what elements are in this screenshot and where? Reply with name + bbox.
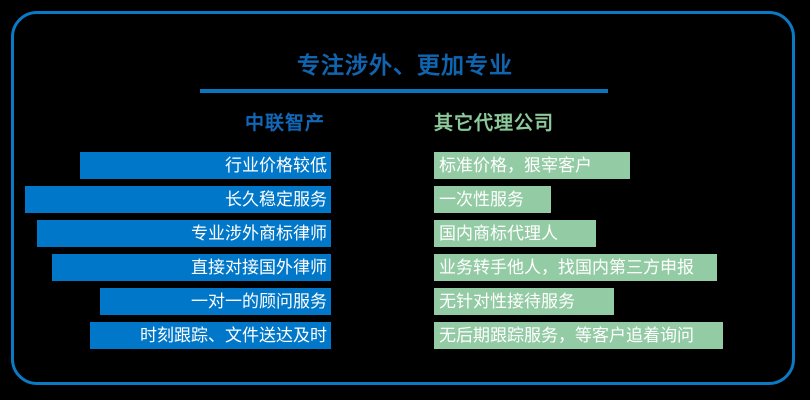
table-row: 直接对接国外律师业务转手他人，找国内第三方申报 <box>0 254 810 281</box>
advantage-bar-left: 行业价格较低 <box>80 152 331 179</box>
advantage-bar-left: 时刻跟踪、文件送达及时 <box>90 322 331 349</box>
table-row: 行业价格较低标准价格，狠宰客户 <box>0 152 810 179</box>
advantage-bar-left: 一对一的顾问服务 <box>100 288 331 315</box>
drawback-bar-right: 业务转手他人，找国内第三方申报 <box>434 254 717 281</box>
drawback-bar-right: 一次性服务 <box>434 186 551 213</box>
comparison-rows: 行业价格较低标准价格，狠宰客户长久稳定服务一次性服务专业涉外商标律师国内商标代理… <box>0 0 810 400</box>
drawback-bar-right: 无后期跟踪服务，等客户追着询问 <box>434 322 723 349</box>
drawback-bar-right: 标准价格，狠宰客户 <box>434 152 630 179</box>
table-row: 时刻跟踪、文件送达及时无后期跟踪服务，等客户追着询问 <box>0 322 810 349</box>
table-row: 一对一的顾问服务无针对性接待服务 <box>0 288 810 315</box>
drawback-bar-right: 无针对性接待服务 <box>434 288 614 315</box>
advantage-bar-left: 专业涉外商标律师 <box>37 220 331 247</box>
table-row: 长久稳定服务一次性服务 <box>0 186 810 213</box>
drawback-bar-right: 国内商标代理人 <box>434 220 596 247</box>
advantage-bar-left: 长久稳定服务 <box>25 186 331 213</box>
table-row: 专业涉外商标律师国内商标代理人 <box>0 220 810 247</box>
advantage-bar-left: 直接对接国外律师 <box>52 254 331 281</box>
slide-canvas: 专注涉外、更加专业 中联智产 其它代理公司 行业价格较低标准价格，狠宰客户长久稳… <box>0 0 810 400</box>
